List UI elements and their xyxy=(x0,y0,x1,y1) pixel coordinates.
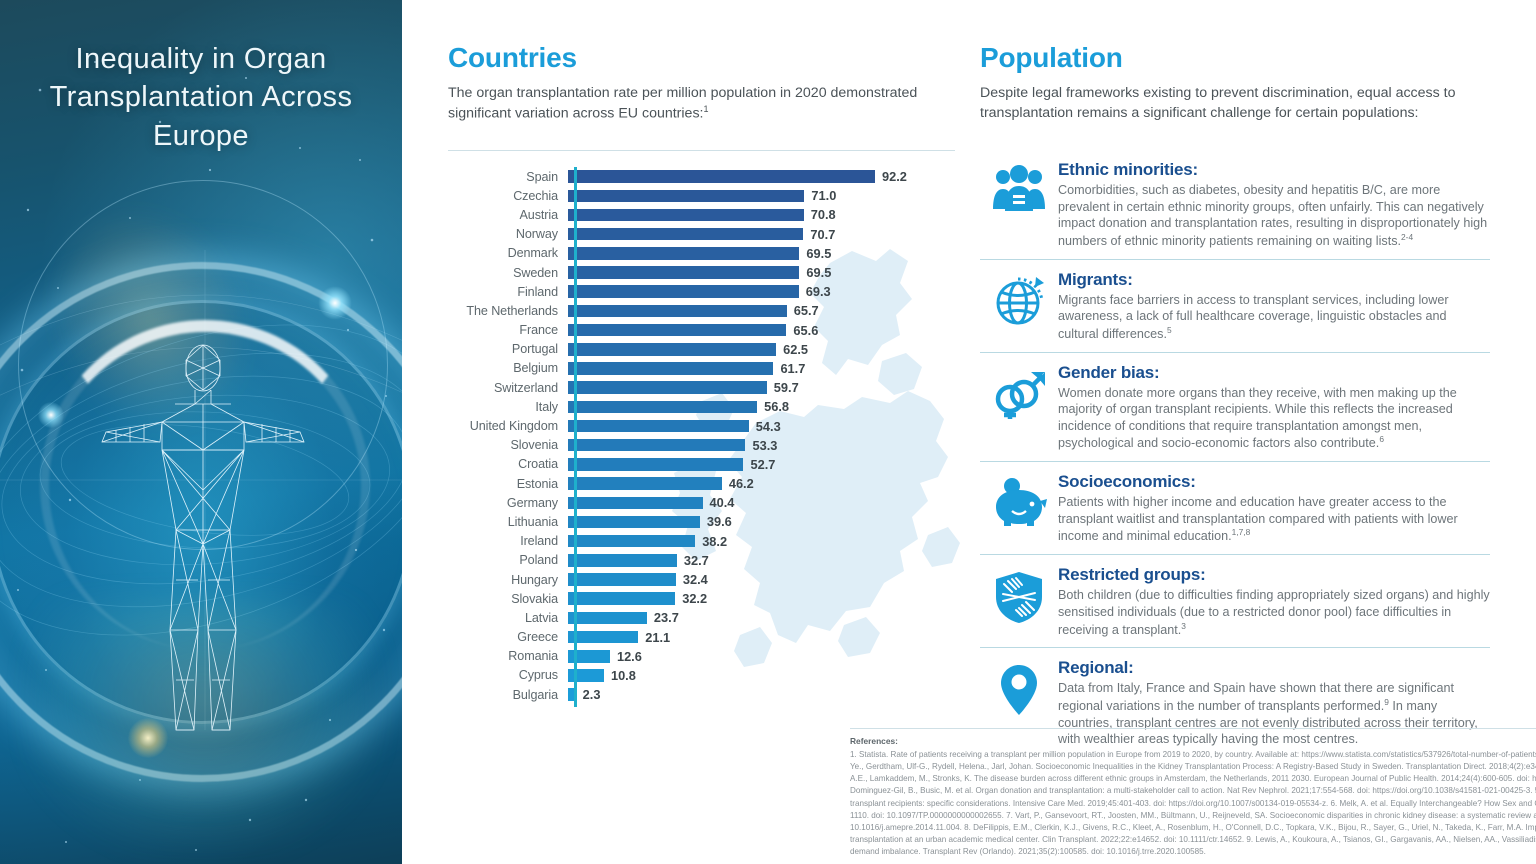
bar-value: 23.7 xyxy=(654,610,679,625)
bar-row: Sweden69.5 xyxy=(448,263,963,282)
content-area: Countries The organ transplantation rate… xyxy=(402,0,1536,864)
network-mesh xyxy=(0,230,402,750)
white-arc-band xyxy=(40,320,370,650)
bar-fill xyxy=(568,420,749,433)
bar-track: 23.7 xyxy=(568,608,963,627)
bar-track: 21.1 xyxy=(568,628,963,647)
bar-track: 71.0 xyxy=(568,186,963,205)
bar-track: 70.7 xyxy=(568,225,963,244)
bar-row: Poland32.7 xyxy=(448,551,963,570)
bar-fill xyxy=(568,535,695,548)
bar-row: Norway70.7 xyxy=(448,225,963,244)
bar-track: 52.7 xyxy=(568,455,963,474)
bar-value: 53.3 xyxy=(752,438,777,453)
population-item-text: Gender bias:Women donate more organs tha… xyxy=(1058,362,1490,453)
bar-value: 61.7 xyxy=(780,361,805,376)
bar-value: 65.6 xyxy=(793,323,818,338)
bar-value: 56.8 xyxy=(764,399,789,414)
bar-fill xyxy=(568,573,676,586)
population-item: Migrants:Migrants face barriers in acces… xyxy=(980,260,1490,352)
bar-label: Sweden xyxy=(448,266,568,280)
bar-row: United Kingdom54.3 xyxy=(448,416,963,435)
population-item-body: Women donate more organs than they recei… xyxy=(1058,385,1490,453)
warm-glow xyxy=(12,174,288,466)
population-item-body: Patients with higher income and educatio… xyxy=(1058,494,1490,545)
bar-row: Greece21.1 xyxy=(448,628,963,647)
bar-chart: Spain92.2Czechia71.0Austria70.8Norway70.… xyxy=(448,155,963,715)
bar-fill xyxy=(568,324,786,337)
references-divider xyxy=(850,728,1536,729)
population-item-text: Restricted groups:Both children (due to … xyxy=(1058,564,1490,638)
bar-track: 32.2 xyxy=(568,589,963,608)
bar-value: 54.3 xyxy=(756,419,781,434)
particle-dots xyxy=(0,30,402,864)
bar-track: 2.3 xyxy=(568,685,963,704)
outer-glow-arc xyxy=(0,262,402,782)
bar-label: Austria xyxy=(448,208,568,222)
globe-icon xyxy=(980,269,1058,329)
bar-value: 92.2 xyxy=(882,169,907,184)
bar-fill xyxy=(568,516,700,529)
bar-track: 61.7 xyxy=(568,359,963,378)
chart-bars: Spain92.2Czechia71.0Austria70.8Norway70.… xyxy=(448,155,963,704)
bar-row: Latvia23.7 xyxy=(448,608,963,627)
bar-row: Belgium61.7 xyxy=(448,359,963,378)
population-item-text: Regional:Data from Italy, France and Spa… xyxy=(1058,657,1490,748)
population-item-body: Migrants face barriers in access to tran… xyxy=(1058,292,1490,343)
bar-value: 2.3 xyxy=(583,687,601,702)
bar-value: 21.1 xyxy=(645,630,670,645)
bar-value: 71.0 xyxy=(811,188,836,203)
population-column: Population Despite legal frameworks exis… xyxy=(980,42,1490,123)
bar-label: Finland xyxy=(448,285,568,299)
bar-label: Spain xyxy=(448,170,568,184)
population-item-title: Restricted groups: xyxy=(1058,565,1490,585)
bar-row: Estonia46.2 xyxy=(448,474,963,493)
bar-label: France xyxy=(448,323,568,337)
light-spark xyxy=(128,718,168,758)
thin-arc xyxy=(18,180,388,550)
piggy-bank-icon xyxy=(980,471,1058,527)
bar-track: 65.7 xyxy=(568,301,963,320)
population-item-body: Both children (due to difficulties findi… xyxy=(1058,587,1490,638)
bar-fill xyxy=(568,285,799,298)
bar-fill xyxy=(568,458,743,471)
chart-axis-line xyxy=(574,167,577,707)
bar-fill xyxy=(568,401,757,414)
population-items: Ethnic minorities:Comorbidities, such as… xyxy=(980,150,1490,757)
bar-fill xyxy=(568,190,804,203)
bar-fill xyxy=(568,439,745,452)
bar-label: Croatia xyxy=(448,457,568,471)
bar-track: 62.5 xyxy=(568,340,963,359)
bar-label: Estonia xyxy=(448,477,568,491)
bar-row: The Netherlands65.7 xyxy=(448,301,963,320)
bar-value: 69.5 xyxy=(806,246,831,261)
bar-track: 56.8 xyxy=(568,397,963,416)
population-item-text: Migrants:Migrants face barriers in acces… xyxy=(1058,269,1490,343)
bar-track: 53.3 xyxy=(568,436,963,455)
countries-subtitle-ref: 1 xyxy=(704,104,709,114)
bar-value: 70.8 xyxy=(811,207,836,222)
countries-subtitle-text: The organ transplantation rate per milli… xyxy=(448,85,917,122)
references-title: References: xyxy=(850,736,1536,746)
gender-symbols-icon xyxy=(980,362,1058,420)
location-pin-icon xyxy=(980,657,1058,717)
bar-track: 70.8 xyxy=(568,205,963,224)
bar-row: Switzerland59.7 xyxy=(448,378,963,397)
bar-track: 40.4 xyxy=(568,493,963,512)
countries-subtitle: The organ transplantation rate per milli… xyxy=(448,83,963,124)
bar-fill xyxy=(568,266,799,279)
references: References: 1. Statista. Rate of patient… xyxy=(850,736,1536,858)
bar-value: 62.5 xyxy=(783,342,808,357)
bar-fill xyxy=(568,612,647,625)
bar-label: Belgium xyxy=(448,361,568,375)
bar-row: Hungary32.4 xyxy=(448,570,963,589)
bar-label: United Kingdom xyxy=(448,419,568,433)
bar-value: 52.7 xyxy=(750,457,775,472)
countries-divider xyxy=(448,150,955,151)
bar-label: Germany xyxy=(448,496,568,510)
countries-column: Countries The organ transplantation rate… xyxy=(448,42,963,124)
bar-track: 65.6 xyxy=(568,321,963,340)
references-body: 1. Statista. Rate of patients receiving … xyxy=(850,749,1536,858)
population-item-title: Migrants: xyxy=(1058,270,1490,290)
bar-fill xyxy=(568,170,875,183)
bar-value: 39.6 xyxy=(707,514,732,529)
bar-label: Poland xyxy=(448,553,568,567)
bar-label: Latvia xyxy=(448,611,568,625)
population-item: Gender bias:Women donate more organs tha… xyxy=(980,353,1490,462)
bar-track: 10.8 xyxy=(568,666,963,685)
bar-track: 32.7 xyxy=(568,551,963,570)
bar-fill xyxy=(568,305,787,318)
population-item: Socioeconomics:Patients with higher inco… xyxy=(980,462,1490,554)
bar-row: Germany40.4 xyxy=(448,493,963,512)
bar-label: Czechia xyxy=(448,189,568,203)
bar-row: Austria70.8 xyxy=(448,205,963,224)
population-item-body: Comorbidities, such as diabetes, obesity… xyxy=(1058,182,1490,250)
bar-label: Portugal xyxy=(448,342,568,356)
bottom-glow xyxy=(28,600,378,850)
inner-glow-arc xyxy=(0,300,402,724)
bar-track: 46.2 xyxy=(568,474,963,493)
population-item: Ethnic minorities:Comorbidities, such as… xyxy=(980,150,1490,259)
bar-track: 54.3 xyxy=(568,416,963,435)
bar-row: Cyprus10.8 xyxy=(448,666,963,685)
bar-row: Ireland38.2 xyxy=(448,532,963,551)
bar-label: Lithuania xyxy=(448,515,568,529)
bar-fill xyxy=(568,631,638,644)
bar-value: 32.4 xyxy=(683,572,708,587)
population-item: Restricted groups:Both children (due to … xyxy=(980,555,1490,647)
bar-value: 40.4 xyxy=(710,495,735,510)
population-item-text: Ethnic minorities:Comorbidities, such as… xyxy=(1058,159,1490,250)
bar-fill xyxy=(568,362,773,375)
bar-label: Switzerland xyxy=(448,381,568,395)
bar-fill xyxy=(568,343,776,356)
bar-label: Cyprus xyxy=(448,668,568,682)
bar-value: 32.7 xyxy=(684,553,709,568)
bar-label: Slovenia xyxy=(448,438,568,452)
bar-label: Denmark xyxy=(448,246,568,260)
bar-row: Bulgaria2.3 xyxy=(448,685,963,704)
bar-label: Norway xyxy=(448,227,568,241)
bar-value: 38.2 xyxy=(702,534,727,549)
population-item-title: Regional: xyxy=(1058,658,1490,678)
population-item-title: Ethnic minorities: xyxy=(1058,160,1490,180)
bar-value: 32.2 xyxy=(682,591,707,606)
bar-track: 69.3 xyxy=(568,282,963,301)
bar-fill xyxy=(568,381,767,394)
bar-value: 69.3 xyxy=(806,284,831,299)
bar-value: 59.7 xyxy=(774,380,799,395)
bar-row: Slovakia32.2 xyxy=(448,589,963,608)
bar-label: Romania xyxy=(448,649,568,663)
bar-row: Czechia71.0 xyxy=(448,186,963,205)
bar-track: 38.2 xyxy=(568,532,963,551)
population-item-text: Socioeconomics:Patients with higher inco… xyxy=(1058,471,1490,545)
bar-track: 32.4 xyxy=(568,570,963,589)
bar-label: Italy xyxy=(448,400,568,414)
bar-value: 70.7 xyxy=(810,227,835,242)
light-spark xyxy=(318,286,352,320)
page-title: Inequality in Organ Transplantation Acro… xyxy=(0,40,402,155)
bar-value: 69.5 xyxy=(806,265,831,280)
bar-track: 12.6 xyxy=(568,647,963,666)
bar-value: 12.6 xyxy=(617,649,642,664)
helping-hands-shield-icon xyxy=(980,564,1058,624)
bar-row: Croatia52.7 xyxy=(448,455,963,474)
bar-row: Slovenia53.3 xyxy=(448,436,963,455)
light-spark xyxy=(38,402,64,428)
bar-fill xyxy=(568,477,722,490)
bar-row: Romania12.6 xyxy=(448,647,963,666)
bar-label: Slovakia xyxy=(448,592,568,606)
bar-row: France65.6 xyxy=(448,321,963,340)
bar-track: 69.5 xyxy=(568,244,963,263)
bar-label: Greece xyxy=(448,630,568,644)
bar-track: 39.6 xyxy=(568,512,963,531)
bar-value: 65.7 xyxy=(794,303,819,318)
bar-fill xyxy=(568,554,677,567)
countries-heading: Countries xyxy=(448,42,963,74)
bar-fill xyxy=(568,228,803,241)
bar-fill xyxy=(568,497,703,510)
bar-fill xyxy=(568,592,675,605)
bar-label: Bulgaria xyxy=(448,688,568,702)
bar-row: Finland69.3 xyxy=(448,282,963,301)
population-heading: Population xyxy=(980,42,1490,74)
bar-track: 59.7 xyxy=(568,378,963,397)
bar-value: 46.2 xyxy=(729,476,754,491)
bar-value: 10.8 xyxy=(611,668,636,683)
bar-row: Italy56.8 xyxy=(448,397,963,416)
bar-label: Hungary xyxy=(448,573,568,587)
people-group-icon xyxy=(980,159,1058,215)
population-subtitle: Despite legal frameworks existing to pre… xyxy=(980,83,1490,123)
hero-panel: Inequality in Organ Transplantation Acro… xyxy=(0,0,402,864)
population-item-title: Gender bias: xyxy=(1058,363,1490,383)
bar-row: Denmark69.5 xyxy=(448,244,963,263)
bar-label: Ireland xyxy=(448,534,568,548)
bar-track: 92.2 xyxy=(568,167,963,186)
bar-track: 69.5 xyxy=(568,263,963,282)
bar-row: Lithuania39.6 xyxy=(448,512,963,531)
bar-row: Portugal62.5 xyxy=(448,340,963,359)
bar-label: The Netherlands xyxy=(448,304,568,318)
population-item-title: Socioeconomics: xyxy=(1058,472,1490,492)
bar-row: Spain92.2 xyxy=(448,167,963,186)
bar-fill xyxy=(568,209,804,222)
wireframe-human-figure-icon xyxy=(100,330,306,770)
bar-fill xyxy=(568,247,799,260)
